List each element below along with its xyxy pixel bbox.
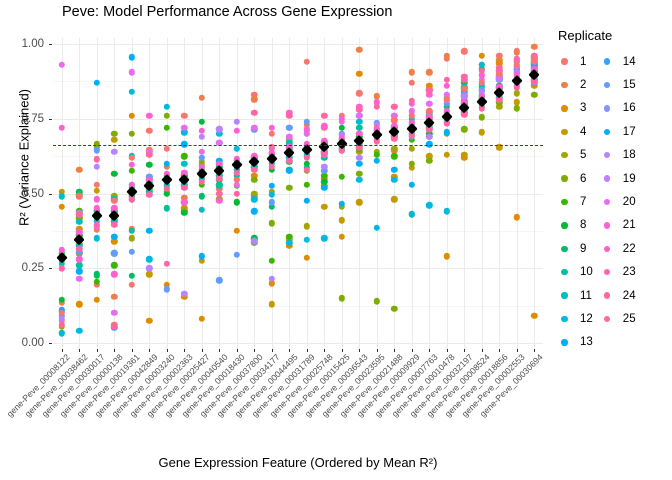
data-point (199, 148, 205, 154)
data-point (199, 95, 205, 101)
legend-label: 14 (623, 56, 636, 68)
data-point (199, 133, 205, 139)
data-point (339, 295, 345, 301)
legend-label: 22 (623, 243, 636, 255)
data-point (409, 211, 415, 217)
data-point (146, 128, 152, 134)
data-point (514, 214, 520, 220)
data-point (76, 166, 82, 172)
legend-swatch-icon (556, 194, 573, 211)
legend-swatch-icon (599, 123, 616, 140)
data-point (269, 130, 275, 136)
gridline-major (53, 44, 543, 45)
legend-label: 2 (580, 79, 586, 91)
data-point (461, 126, 467, 132)
data-point (199, 193, 205, 199)
legend-swatch-icon (556, 240, 573, 257)
data-point (479, 53, 485, 59)
x-axis-tick-labels: gene-Peve_00008122gene-Peve_00038462gene… (0, 352, 560, 452)
gridline-major (53, 268, 543, 269)
data-point (111, 130, 117, 136)
data-point (94, 181, 100, 187)
gridline-minor (53, 156, 543, 157)
legend-swatch-icon (599, 217, 616, 234)
legend-swatch-icon (599, 240, 616, 257)
data-point (234, 128, 240, 134)
legend-item-19[interactable]: 19 (599, 167, 636, 190)
legend-item-3[interactable]: 3 (556, 97, 593, 120)
data-point (339, 234, 345, 240)
data-point (76, 276, 82, 282)
data-point (269, 220, 275, 226)
legend-label: 11 (580, 290, 592, 302)
data-point (426, 202, 432, 208)
legend-label: 24 (623, 290, 636, 302)
data-point (269, 125, 275, 131)
legend-label: 13 (580, 336, 593, 348)
plot-panel (53, 38, 543, 349)
data-point (199, 128, 205, 134)
data-point (426, 133, 432, 139)
legend-label: 20 (623, 196, 636, 208)
data-point (251, 196, 257, 202)
data-point (321, 235, 327, 241)
data-point (531, 92, 537, 98)
data-point (356, 119, 362, 125)
data-point (304, 198, 310, 204)
y-axis-tick-mark (49, 119, 52, 120)
data-point (111, 171, 117, 177)
y-axis-tick-label: 0.25 (0, 262, 44, 274)
data-point (234, 190, 240, 196)
legend-swatch-icon (556, 123, 573, 140)
data-point (304, 154, 310, 160)
y-axis-tick-mark (49, 44, 52, 45)
data-point (129, 54, 135, 60)
data-point (129, 130, 135, 136)
data-point (111, 136, 117, 142)
data-point (321, 204, 327, 210)
data-point (111, 271, 117, 277)
data-point (94, 235, 100, 241)
legend-label: 12 (580, 313, 593, 325)
data-point (146, 256, 152, 262)
data-point (76, 219, 82, 225)
data-point (94, 147, 100, 153)
y-axis-tick-mark (49, 343, 52, 344)
legend-label: 4 (580, 126, 586, 138)
legend-swatch-icon (599, 170, 616, 187)
legend-swatch-icon (599, 310, 616, 327)
data-point (216, 198, 222, 204)
data-point (94, 196, 100, 202)
data-point (164, 145, 170, 151)
data-point (129, 273, 135, 279)
data-point (216, 190, 222, 196)
legend-label: 21 (623, 219, 636, 231)
legend-item-21[interactable]: 21 (599, 214, 636, 237)
legend-item-23[interactable]: 23 (599, 261, 636, 284)
data-point (251, 208, 257, 214)
legend-item-4[interactable]: 4 (556, 120, 593, 143)
legend-swatch-icon (556, 334, 573, 351)
legend-swatch-icon (556, 77, 573, 94)
data-point (409, 80, 415, 86)
legend-item-14[interactable]: 14 (599, 50, 636, 73)
y-axis-tick-label: 0.50 (0, 188, 44, 200)
data-point (129, 89, 135, 95)
data-point (304, 59, 310, 65)
legend-swatch-icon (599, 77, 616, 94)
legend: Replicate 12345678910111213 141516171819… (556, 28, 672, 354)
data-point (181, 199, 187, 205)
data-point (164, 205, 170, 211)
data-point (59, 125, 65, 131)
data-point (94, 80, 100, 86)
legend-label: 17 (623, 126, 636, 138)
legend-swatch-icon (599, 147, 616, 164)
data-point (251, 166, 257, 172)
legend-swatch-icon (556, 287, 573, 304)
legend-item-6[interactable]: 6 (556, 167, 593, 190)
y-axis-tick-mark (49, 268, 52, 269)
data-point (164, 104, 170, 110)
y-axis-tick-label: 0.75 (0, 113, 44, 125)
data-point (339, 217, 345, 223)
data-point (164, 286, 170, 292)
data-point (304, 237, 310, 243)
data-point (111, 222, 117, 228)
y-axis-tick-mark (49, 194, 52, 195)
data-point (76, 328, 82, 334)
data-point (199, 316, 205, 322)
legend-item-18[interactable]: 18 (599, 144, 636, 167)
data-point (146, 265, 152, 271)
legend-label: 7 (580, 196, 586, 208)
data-point (356, 177, 362, 183)
gridline-vertical (394, 38, 395, 349)
data-point (111, 250, 117, 256)
data-point (374, 298, 380, 304)
gridline-vertical (342, 38, 343, 349)
gridline-minor (53, 81, 543, 82)
data-point (531, 44, 537, 50)
data-point (356, 199, 362, 205)
data-point (76, 268, 82, 274)
data-point (479, 129, 485, 135)
data-point (269, 183, 275, 189)
y-axis-tick-label: 1.00 (0, 38, 44, 50)
data-point (409, 69, 415, 75)
data-point (94, 156, 100, 162)
legend-label: 9 (580, 243, 586, 255)
legend-label: 25 (623, 313, 636, 325)
legend-swatch-icon (556, 170, 573, 187)
data-point (391, 196, 397, 202)
data-point (111, 148, 117, 154)
legend-item-22[interactable]: 22 (599, 237, 636, 260)
y-axis-title: R² (Variance Explained) (17, 38, 32, 278)
data-point (356, 47, 362, 53)
data-point (199, 119, 205, 125)
legend-swatch-icon (599, 100, 616, 117)
data-point (391, 305, 397, 311)
legend-label: 8 (580, 219, 586, 231)
data-point (356, 71, 362, 77)
data-point (146, 228, 152, 234)
data-point (356, 107, 362, 113)
legend-item-12[interactable]: 12 (556, 307, 593, 330)
legend-item-13[interactable]: 13 (556, 331, 593, 354)
data-point (286, 168, 292, 174)
data-point (59, 204, 65, 210)
legend-item-17[interactable]: 17 (599, 120, 636, 143)
data-point (356, 160, 362, 166)
legend-label: 16 (623, 102, 636, 114)
data-point (251, 110, 257, 116)
data-point (111, 310, 117, 316)
data-point (59, 331, 65, 337)
data-point (199, 207, 205, 213)
data-point (146, 271, 152, 277)
legend-label: 5 (580, 149, 586, 161)
data-point (234, 199, 240, 205)
data-point (304, 255, 310, 261)
legend-column-2: 141516171819202122232425 (599, 50, 636, 354)
data-point (409, 145, 415, 151)
data-point (111, 198, 117, 204)
data-point (129, 249, 135, 255)
data-point (514, 90, 520, 96)
data-point (269, 258, 275, 264)
y-axis-tick-label: 0.00 (0, 337, 44, 349)
legend-swatch-icon (556, 147, 573, 164)
legend-item-5[interactable]: 5 (556, 144, 593, 167)
data-point (234, 252, 240, 258)
data-point (531, 313, 537, 319)
legend-label: 15 (623, 79, 636, 91)
chart-title: Peve: Model Performance Across Gene Expr… (62, 4, 392, 20)
legend-swatch-icon (556, 217, 573, 234)
legend-label: 10 (580, 266, 593, 278)
gridline-vertical (307, 38, 308, 349)
legend-label: 1 (580, 56, 586, 68)
data-point (269, 192, 275, 198)
x-axis-title: Gene Expression Feature (Ordered by Mean… (53, 455, 543, 470)
data-point (286, 184, 292, 190)
data-point (181, 210, 187, 216)
data-point (59, 193, 65, 199)
data-point (129, 228, 135, 234)
data-point (129, 154, 135, 160)
data-point (514, 105, 520, 111)
data-point (129, 235, 135, 241)
data-point (146, 192, 152, 198)
data-point (426, 69, 432, 75)
data-point (304, 181, 310, 187)
data-point (391, 177, 397, 183)
data-point (426, 157, 432, 163)
legend-item-16[interactable]: 16 (599, 97, 636, 120)
data-point (391, 104, 397, 110)
data-point (146, 162, 152, 168)
legend-item-8[interactable]: 8 (556, 214, 593, 237)
gridline-major (53, 119, 543, 120)
data-point (111, 293, 117, 299)
data-point (129, 69, 135, 75)
data-point (234, 119, 240, 125)
legend-column-1: 12345678910111213 (556, 50, 593, 354)
data-point (304, 223, 310, 229)
legend-item-1[interactable]: 1 (556, 50, 593, 73)
data-point (356, 90, 362, 96)
legend-item-25[interactable]: 25 (599, 307, 636, 330)
gridline-major (53, 343, 543, 344)
data-point (444, 208, 450, 214)
legend-item-2[interactable]: 2 (556, 73, 593, 96)
data-point (374, 157, 380, 163)
data-point (444, 253, 450, 259)
data-point (461, 48, 467, 54)
data-point (164, 125, 170, 131)
data-point (164, 261, 170, 267)
gridline-vertical (324, 38, 325, 349)
data-point (129, 168, 135, 174)
data-point (251, 96, 257, 102)
data-point (444, 83, 450, 89)
data-point (409, 181, 415, 187)
legend-item-10[interactable]: 10 (556, 261, 593, 284)
legend-item-11[interactable]: 11 (556, 284, 593, 307)
data-point (76, 193, 82, 199)
legend-label: 18 (623, 149, 636, 161)
data-point (321, 184, 327, 190)
data-point (94, 296, 100, 302)
gridline-vertical (289, 38, 290, 349)
data-point (234, 145, 240, 151)
data-point (286, 125, 292, 131)
data-point (374, 104, 380, 110)
legend-item-7[interactable]: 7 (556, 190, 593, 213)
data-point (129, 162, 135, 168)
chart-root: Peve: Model Performance Across Gene Expr… (0, 0, 672, 480)
legend-swatch-icon (599, 264, 616, 281)
legend-swatch-icon (556, 53, 573, 70)
gridline-vertical (184, 38, 185, 349)
data-point (356, 154, 362, 160)
legend-title: Replicate (558, 28, 672, 43)
data-point (181, 153, 187, 159)
legend-swatch-icon (556, 310, 573, 327)
legend-swatch-icon (556, 100, 573, 117)
legend-label: 6 (580, 173, 586, 185)
legend-label: 23 (623, 266, 636, 278)
data-point (181, 160, 187, 166)
legend-label: 3 (580, 102, 586, 114)
data-point (339, 174, 345, 180)
legend-item-20[interactable]: 20 (599, 190, 636, 213)
data-point (251, 177, 257, 183)
data-point (76, 256, 82, 262)
legend-swatch-icon (599, 194, 616, 211)
legend-swatch-icon (599, 287, 616, 304)
data-point (216, 277, 222, 283)
data-point (234, 228, 240, 234)
data-point (426, 101, 432, 107)
legend-item-9[interactable]: 9 (556, 237, 593, 260)
reference-hline (53, 145, 543, 146)
data-point (94, 163, 100, 169)
legend-label: 19 (623, 173, 636, 185)
legend-item-24[interactable]: 24 (599, 284, 636, 307)
gridline-minor (53, 306, 543, 307)
legend-swatch-icon (556, 264, 573, 281)
legend-item-15[interactable]: 15 (599, 73, 636, 96)
data-point (59, 62, 65, 68)
data-point (146, 317, 152, 323)
gridline-vertical (359, 38, 360, 349)
data-point (181, 184, 187, 190)
data-point (391, 166, 397, 172)
gridline-minor (53, 231, 543, 232)
legend-swatch-icon (599, 53, 616, 70)
data-point (391, 153, 397, 159)
data-point (129, 281, 135, 287)
data-point (59, 265, 65, 271)
gridline-major (53, 194, 543, 195)
